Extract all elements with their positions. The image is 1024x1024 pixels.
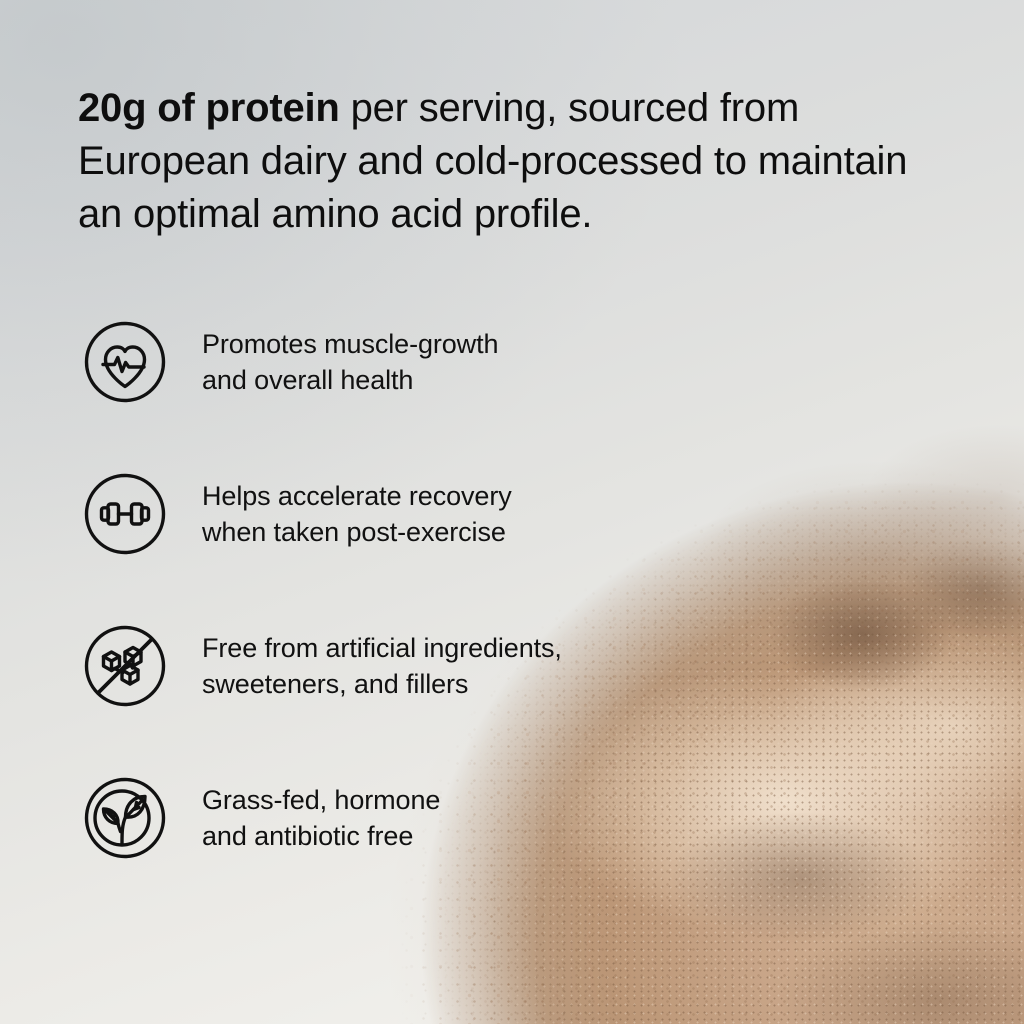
benefit-label: Promotes muscle-growth and overall healt… (202, 326, 778, 398)
headline: 20g of protein per serving, sourced from… (78, 82, 908, 241)
leaf-sprout-icon (78, 771, 172, 865)
benefits-list: Promotes muscle-growth and overall healt… (78, 312, 778, 920)
heart-pulse-icon (78, 315, 172, 409)
no-artificial-ingredients-icon (78, 619, 172, 713)
benefit-label: Helps accelerate recovery when taken pos… (202, 478, 778, 550)
benefit-label: Grass-fed, hormone and antibiotic free (202, 782, 778, 854)
benefit-item: Grass-fed, hormone and antibiotic free (78, 768, 778, 920)
dumbbell-icon (78, 467, 172, 561)
benefit-label: Free from artificial ingredients, sweete… (202, 630, 778, 702)
benefit-item: Helps accelerate recovery when taken pos… (78, 464, 778, 616)
content-column: 20g of protein per serving, sourced from… (78, 0, 958, 1024)
benefit-item: Promotes muscle-growth and overall healt… (78, 312, 778, 464)
headline-emphasis: 20g of protein (78, 86, 340, 130)
benefit-item: Free from artificial ingredients, sweete… (78, 616, 778, 768)
product-benefits-card: 20g of protein per serving, sourced from… (0, 0, 1024, 1024)
